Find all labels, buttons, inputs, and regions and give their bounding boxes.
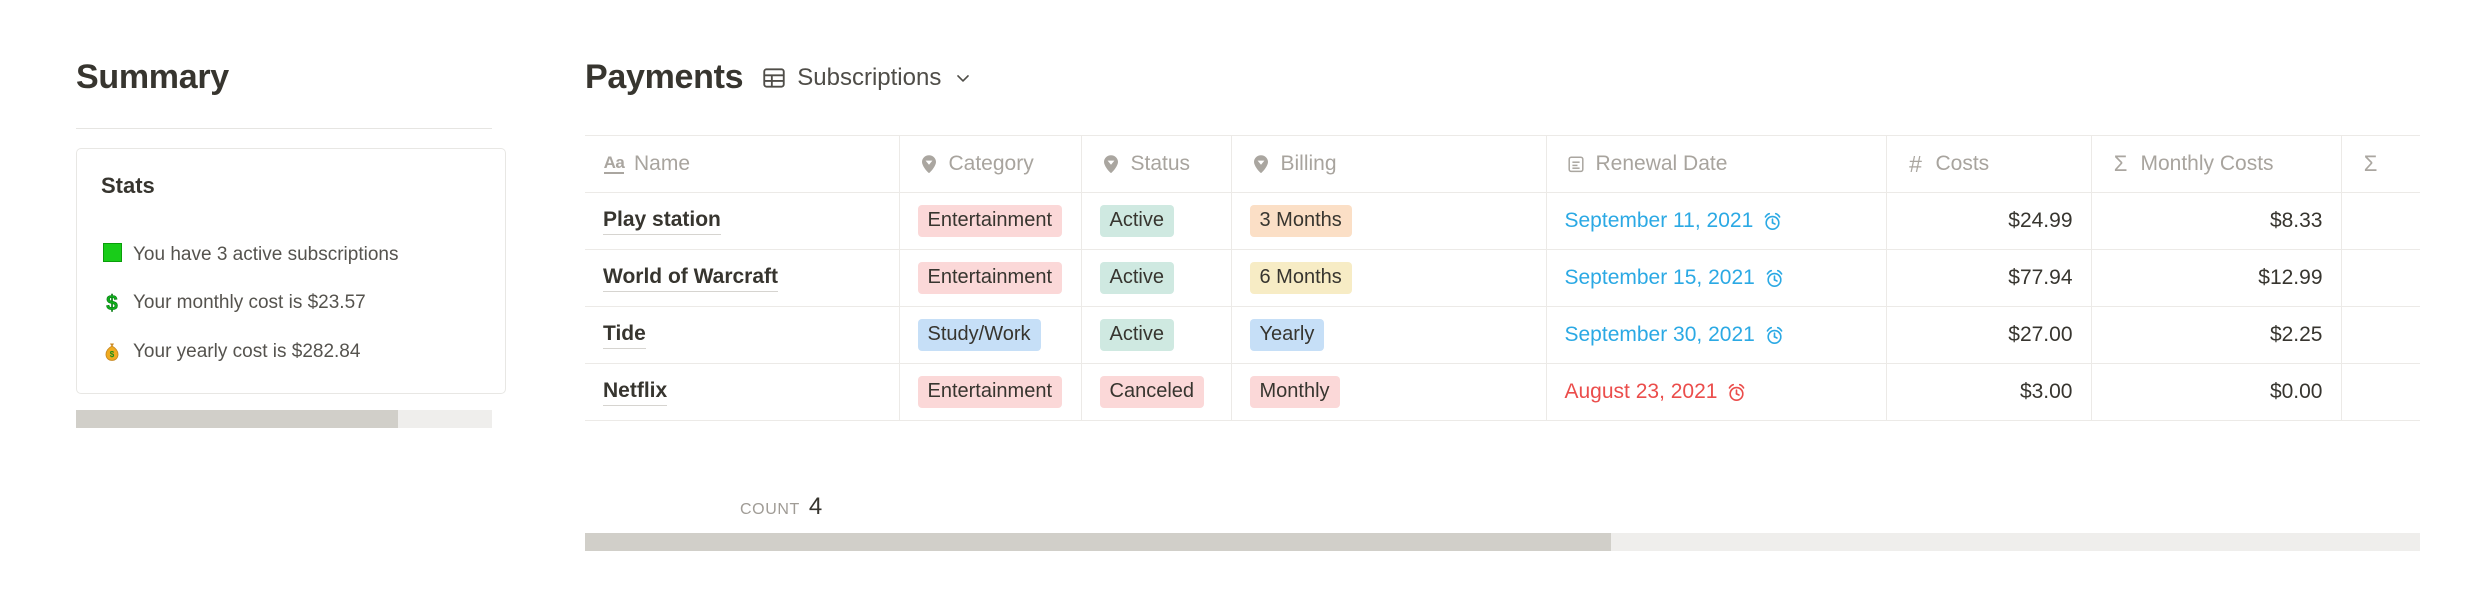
column-header-label: Billing xyxy=(1281,152,1337,176)
svg-text:$: $ xyxy=(110,350,115,359)
tag-billing: 6 Months xyxy=(1250,262,1352,294)
cell-monthly-costs[interactable]: $8.33 xyxy=(2091,193,2341,250)
alarm-clock-icon xyxy=(1762,211,1783,232)
column-header-status[interactable]: Status xyxy=(1081,136,1231,193)
stats-card: Stats You have 3 active subscriptions $ … xyxy=(76,148,506,394)
formula-sigma-icon: Σ xyxy=(2110,153,2132,175)
number-hash-icon: # xyxy=(1905,153,1927,175)
cell-extra[interactable] xyxy=(2341,250,2420,307)
cell-name[interactable]: World of Warcraft xyxy=(585,250,899,307)
stat-item-label: Your monthly cost is $23.57 xyxy=(133,292,366,314)
table-row[interactable]: Tide Study/Work Active Yearly September … xyxy=(585,307,2420,364)
stat-item-yearly-cost: $ Your yearly cost is $282.84 xyxy=(101,341,360,363)
tag-billing: Yearly xyxy=(1250,319,1325,351)
cell-status[interactable]: Active xyxy=(1081,193,1231,250)
tag-billing: 3 Months xyxy=(1250,205,1352,237)
cell-status[interactable]: Active xyxy=(1081,307,1231,364)
page-title: Payments xyxy=(585,58,743,97)
cell-extra[interactable] xyxy=(2341,193,2420,250)
cell-billing[interactable]: 3 Months xyxy=(1231,193,1546,250)
table-icon xyxy=(761,65,787,91)
cell-category[interactable]: Study/Work xyxy=(899,307,1081,364)
cell-costs[interactable]: $27.00 xyxy=(1886,307,2091,364)
cell-renewal-date[interactable]: September 15, 2021 xyxy=(1546,250,1886,307)
cell-category[interactable]: Entertainment xyxy=(899,364,1081,421)
cell-extra[interactable] xyxy=(2341,307,2420,364)
tag-category: Entertainment xyxy=(918,262,1063,294)
cell-status[interactable]: Canceled xyxy=(1081,364,1231,421)
cell-billing[interactable]: Monthly xyxy=(1231,364,1546,421)
count-label: COUNT xyxy=(740,501,800,519)
payments-table-wrapper: Aa Name Category xyxy=(585,135,2420,421)
payments-table: Aa Name Category xyxy=(585,135,2420,421)
row-title-link[interactable]: Tide xyxy=(603,322,646,349)
cell-monthly-costs[interactable]: $12.99 xyxy=(2091,250,2341,307)
stats-card-heading: Stats xyxy=(101,173,155,199)
cell-name[interactable]: Play station xyxy=(585,193,899,250)
stat-item-label: Your yearly cost is $282.84 xyxy=(133,341,360,363)
column-header-label: Status xyxy=(1131,152,1191,176)
renewal-date-text: August 23, 2021 xyxy=(1565,380,1718,404)
count-value: 4 xyxy=(809,493,822,521)
summary-title: Summary xyxy=(76,58,229,97)
cell-billing[interactable]: Yearly xyxy=(1231,307,1546,364)
cell-renewal-date[interactable]: August 23, 2021 xyxy=(1546,364,1886,421)
column-header-costs[interactable]: # Costs xyxy=(1886,136,2091,193)
database-chip-subscriptions[interactable]: Subscriptions xyxy=(761,64,973,92)
column-header-monthly-costs[interactable]: Σ Monthly Costs xyxy=(2091,136,2341,193)
cell-renewal-date[interactable]: September 11, 2021 xyxy=(1546,193,1886,250)
cell-renewal-date[interactable]: September 30, 2021 xyxy=(1546,307,1886,364)
tag-category: Entertainment xyxy=(918,376,1063,408)
tag-status: Active xyxy=(1100,262,1174,294)
stat-item-monthly-cost: $ Your monthly cost is $23.57 xyxy=(101,292,366,314)
renewal-date-text: September 15, 2021 xyxy=(1565,266,1755,290)
stat-item-active-subscriptions: You have 3 active subscriptions xyxy=(101,243,398,266)
column-header-label: Name xyxy=(634,152,690,176)
table-header-row: Aa Name Category xyxy=(585,136,2420,193)
table-header: Aa Name Category xyxy=(585,136,2420,193)
money-bag-icon: $ xyxy=(101,342,123,362)
cell-status[interactable]: Active xyxy=(1081,250,1231,307)
cell-category[interactable]: Entertainment xyxy=(899,193,1081,250)
cell-category[interactable]: Entertainment xyxy=(899,250,1081,307)
payments-panel: Payments Subscriptions xyxy=(560,0,2483,613)
row-title-link[interactable]: World of Warcraft xyxy=(603,265,778,292)
table-body: Play station Entertainment Active 3 Mont… xyxy=(585,193,2420,421)
cell-name[interactable]: Tide xyxy=(585,307,899,364)
cell-monthly-costs[interactable]: $2.25 xyxy=(2091,307,2341,364)
tag-status: Active xyxy=(1100,205,1174,237)
table-row[interactable]: Netflix Entertainment Canceled Monthly A… xyxy=(585,364,2420,421)
select-icon xyxy=(918,153,940,175)
cell-billing[interactable]: 6 Months xyxy=(1231,250,1546,307)
table-row[interactable]: World of Warcraft Entertainment Active 6… xyxy=(585,250,2420,307)
select-icon xyxy=(1250,153,1272,175)
alarm-clock-icon xyxy=(1764,268,1785,289)
payments-header: Payments Subscriptions xyxy=(585,58,973,97)
column-header-label: Category xyxy=(949,152,1034,176)
database-chip-label: Subscriptions xyxy=(797,64,941,92)
cell-costs[interactable]: $24.99 xyxy=(1886,193,2091,250)
cell-costs[interactable]: $77.94 xyxy=(1886,250,2091,307)
column-header-label: Costs xyxy=(1936,152,1990,176)
summary-panel: Summary Stats You have 3 active subscrip… xyxy=(0,0,560,613)
table-footer: COUNT 4 xyxy=(585,485,2420,533)
text-aa-icon: Aa xyxy=(603,153,625,175)
column-header-billing[interactable]: Billing xyxy=(1231,136,1546,193)
stat-item-label: You have 3 active subscriptions xyxy=(133,244,398,266)
tag-status: Canceled xyxy=(1100,376,1205,408)
column-header-category[interactable]: Category xyxy=(899,136,1081,193)
column-header-label: Renewal Date xyxy=(1596,152,1728,176)
table-scrollbar-thumb[interactable] xyxy=(585,533,1611,551)
select-icon xyxy=(1100,153,1122,175)
alarm-clock-icon xyxy=(1764,325,1785,346)
summary-scrollbar-thumb[interactable] xyxy=(76,410,398,428)
tag-category: Study/Work xyxy=(918,319,1041,351)
count-summary[interactable]: COUNT 4 xyxy=(740,493,822,521)
table-row[interactable]: Play station Entertainment Active 3 Mont… xyxy=(585,193,2420,250)
column-header-label: Monthly Costs xyxy=(2141,152,2274,176)
calendar-icon xyxy=(1565,153,1587,175)
row-title-link[interactable]: Netflix xyxy=(603,379,667,406)
column-header-renewal-date[interactable]: Renewal Date xyxy=(1546,136,1886,193)
renewal-date-text: September 30, 2021 xyxy=(1565,323,1755,347)
cell-monthly-costs[interactable]: $0.00 xyxy=(2091,364,2341,421)
cell-name[interactable]: Netflix xyxy=(585,364,899,421)
heavy-dollar-sign-icon: $ xyxy=(101,293,123,314)
column-header-extra-formula[interactable]: Σ xyxy=(2341,136,2420,193)
chevron-down-icon[interactable] xyxy=(953,68,973,88)
tag-status: Active xyxy=(1100,319,1174,351)
row-title-link[interactable]: Play station xyxy=(603,208,721,235)
formula-sigma-icon: Σ xyxy=(2360,153,2382,175)
column-header-name[interactable]: Aa Name xyxy=(585,136,899,193)
summary-divider xyxy=(76,128,492,129)
cell-costs[interactable]: $3.00 xyxy=(1886,364,2091,421)
table-horizontal-scrollbar[interactable] xyxy=(585,533,2420,551)
green-square-icon xyxy=(101,243,123,266)
tag-billing: Monthly xyxy=(1250,376,1340,408)
summary-horizontal-scrollbar[interactable] xyxy=(76,410,492,428)
renewal-date-text: September 11, 2021 xyxy=(1565,209,1754,233)
cell-extra[interactable] xyxy=(2341,364,2420,421)
tag-category: Entertainment xyxy=(918,205,1063,237)
alarm-clock-icon xyxy=(1726,382,1747,403)
